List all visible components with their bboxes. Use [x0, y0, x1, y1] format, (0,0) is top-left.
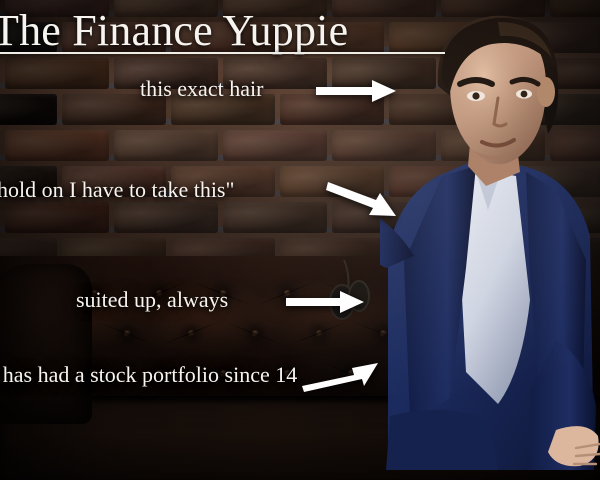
caption-portfolio: has had a stock portfolio since 14	[0, 362, 300, 388]
caption-phone: "hold on I have to take this"	[0, 177, 234, 203]
pupil-left	[472, 92, 479, 99]
trouser-leg	[386, 410, 498, 470]
arrow-down-right-phone	[326, 180, 402, 220]
caption-suit: suited up, always	[76, 287, 228, 313]
arrow-right-suit	[286, 291, 366, 313]
title-underline	[0, 52, 445, 54]
page-title: The Finance Yuppie	[0, 8, 452, 54]
pupil-right	[521, 91, 528, 98]
ear	[537, 77, 555, 107]
arrow-right-hair	[316, 80, 398, 102]
man-in-navy-suit	[380, 0, 600, 480]
meme-image: The Finance Yuppie this exact hair "hold…	[0, 0, 600, 480]
arrow-up-right-portfolio	[302, 360, 380, 394]
caption-hair: this exact hair	[140, 76, 263, 102]
